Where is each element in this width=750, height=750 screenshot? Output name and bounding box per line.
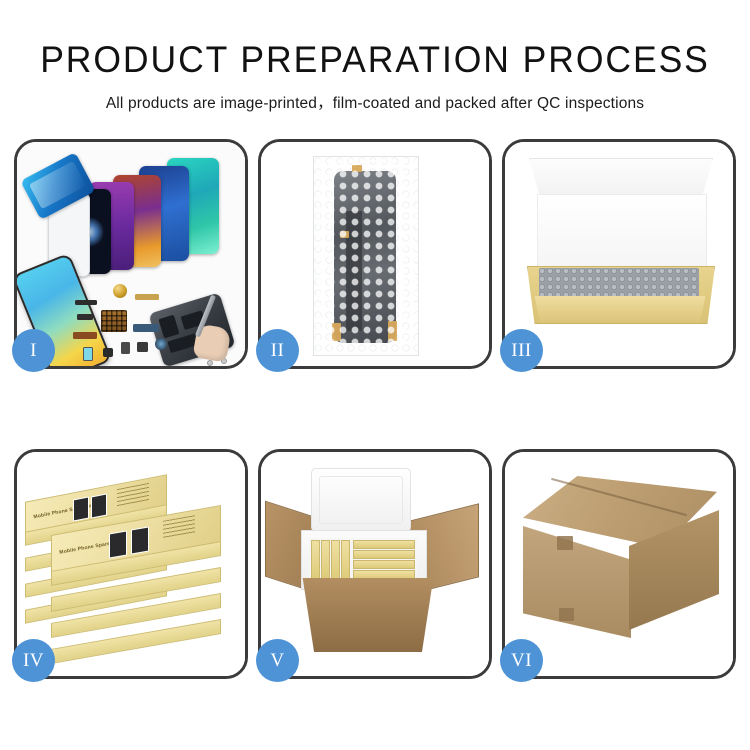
step-image-4: Mobile Phone Spare Parts Mobile Phone Sp… bbox=[17, 452, 245, 676]
camera-module-part bbox=[155, 338, 167, 350]
page-subtitle: All products are image-printed，film-coat… bbox=[0, 91, 750, 113]
vibrator-part bbox=[137, 342, 148, 352]
yellow-box-item bbox=[353, 550, 415, 559]
gold-coil-part bbox=[113, 284, 127, 298]
carton-body bbox=[297, 578, 439, 652]
sim-tray-part bbox=[121, 342, 130, 354]
carton-tape bbox=[557, 536, 573, 550]
tape-piece bbox=[340, 231, 349, 238]
ribbon-connector-part bbox=[133, 324, 159, 332]
step-panel-2[interactable]: II bbox=[258, 139, 492, 369]
yellow-box-item bbox=[331, 540, 340, 582]
yellow-box-item bbox=[311, 540, 320, 582]
sealed-carton-illustration bbox=[505, 452, 733, 676]
stacked-boxes-illustration: Mobile Phone Spare Parts Mobile Phone Sp… bbox=[17, 452, 245, 676]
carton-left-face bbox=[523, 526, 631, 638]
step-image-5 bbox=[261, 452, 489, 676]
screw-part bbox=[207, 360, 213, 366]
box-lid-flap bbox=[529, 158, 713, 198]
yellow-box-item bbox=[341, 540, 350, 582]
step-image-3 bbox=[505, 142, 733, 366]
yellow-box-item bbox=[353, 560, 415, 569]
chip-array-part bbox=[101, 310, 127, 332]
open-inner-box-illustration bbox=[505, 142, 733, 366]
antenna-part bbox=[77, 314, 93, 320]
step-image-6 bbox=[505, 452, 733, 676]
step-panel-5[interactable]: V bbox=[258, 449, 492, 679]
carton-loading-illustration bbox=[261, 452, 489, 676]
step-panel-6[interactable]: VI bbox=[502, 449, 736, 679]
box-front-panel bbox=[531, 296, 709, 322]
process-step-grid: I II bbox=[14, 139, 736, 679]
tape-piece bbox=[388, 321, 397, 341]
step-badge-2: II bbox=[256, 329, 299, 372]
bubble-wrap-illustration bbox=[261, 142, 489, 366]
step-badge-4: IV bbox=[12, 639, 55, 682]
tape-piece bbox=[352, 165, 362, 172]
box-phone-graphic bbox=[109, 530, 127, 558]
tape-piece bbox=[332, 323, 341, 341]
page-header: PRODUCT PREPARATION PROCESS All products… bbox=[0, 0, 750, 113]
step-badge-5: V bbox=[256, 639, 299, 682]
step-image-2 bbox=[261, 142, 489, 366]
speaker-part bbox=[103, 348, 113, 357]
step-panel-1[interactable]: I bbox=[14, 139, 248, 369]
carton-tape bbox=[559, 608, 574, 621]
step-badge-1: I bbox=[12, 329, 55, 372]
foam-cavity bbox=[309, 538, 417, 582]
bubble-wrap-bag bbox=[313, 156, 419, 356]
step-badge-6: VI bbox=[500, 639, 543, 682]
sensor-part bbox=[83, 347, 93, 361]
phones-and-parts-illustration bbox=[17, 142, 245, 366]
gold-connector-part bbox=[135, 294, 159, 300]
box-phone-graphic bbox=[131, 526, 149, 554]
step-panel-3[interactable]: III bbox=[502, 139, 736, 369]
box-phone-graphic bbox=[73, 496, 89, 521]
copper-flex-part bbox=[73, 332, 97, 339]
yellow-box-item bbox=[321, 540, 330, 582]
yellow-box-item bbox=[353, 540, 415, 549]
wrapped-screen-assembly bbox=[334, 171, 396, 343]
box-phone-graphic bbox=[91, 493, 107, 518]
page-title: PRODUCT PREPARATION PROCESS bbox=[15, 38, 735, 82]
foam-lid bbox=[311, 468, 411, 532]
foam-sheet bbox=[537, 194, 707, 276]
step-badge-3: III bbox=[500, 329, 543, 372]
step-image-1 bbox=[17, 142, 245, 366]
flex-cable-part bbox=[75, 300, 97, 305]
step-panel-4[interactable]: Mobile Phone Spare Parts Mobile Phone Sp… bbox=[14, 449, 248, 679]
